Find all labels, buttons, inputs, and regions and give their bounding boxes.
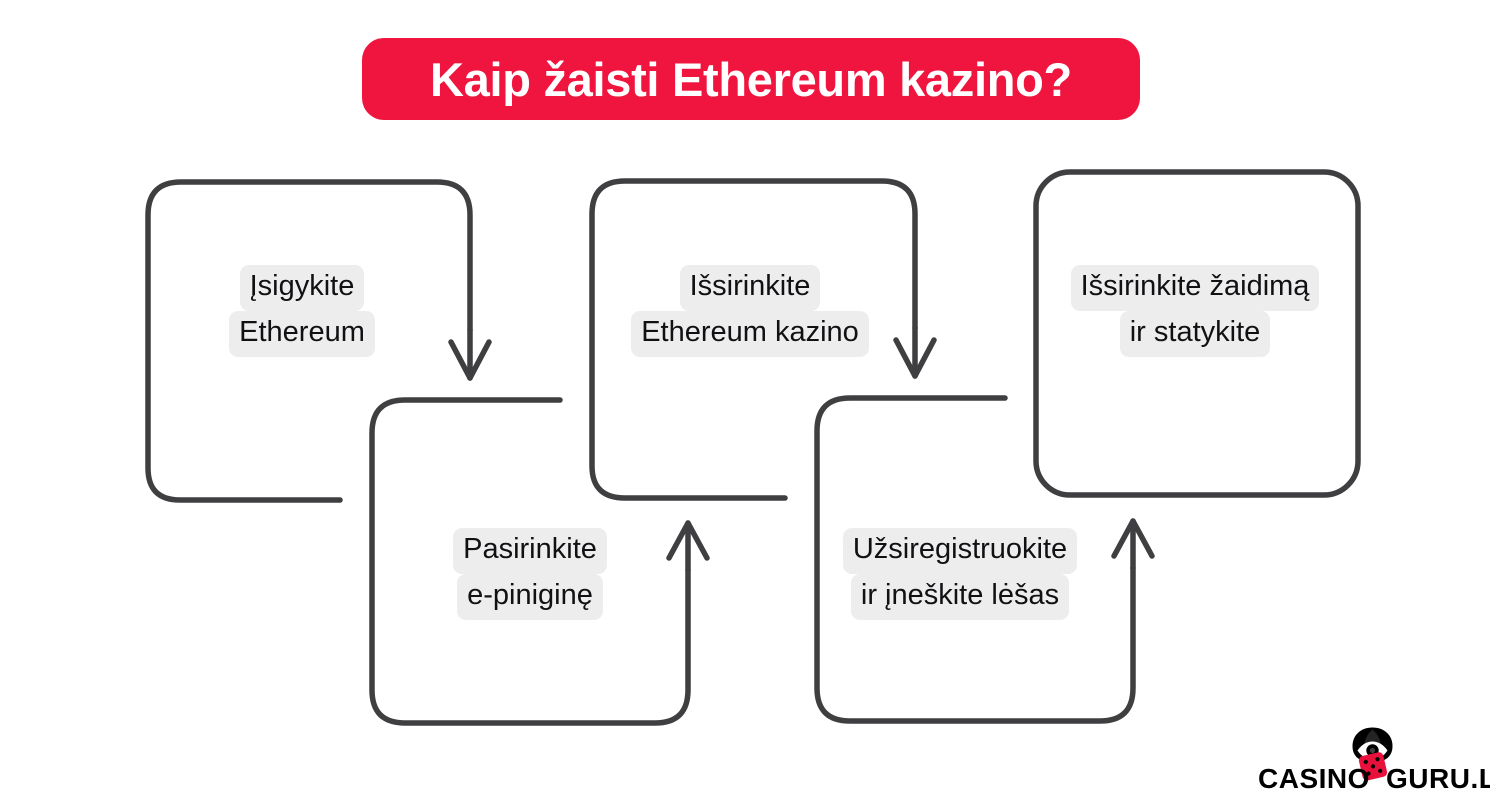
logo-text-casino: CASINO bbox=[1258, 763, 1370, 794]
step-3-label: Išsirinkite Ethereum kazino bbox=[575, 265, 925, 357]
infographic-canvas: Kaip žaisti Ethereum kazino? bbox=[0, 0, 1500, 800]
step-3-line-1: Išsirinkite bbox=[680, 265, 821, 311]
flowchart-strokes bbox=[0, 0, 1500, 800]
step-1-line-1: Įsigykite bbox=[240, 265, 365, 311]
step-4-label: Užsiregistruokite ir įneškite lėšas bbox=[800, 528, 1120, 620]
step-3-line-2: Ethereum kazino bbox=[631, 311, 869, 357]
logo-text-guru: GURU.LT bbox=[1386, 763, 1490, 794]
step-5-label: Išsirinkite žaidimą ir statykite bbox=[1020, 265, 1370, 357]
step-5-line-1: Išsirinkite žaidimą bbox=[1071, 265, 1320, 311]
step-5-line-2: ir statykite bbox=[1120, 311, 1271, 357]
step-1-label: Įsigykite Ethereum bbox=[182, 265, 422, 357]
step-4-line-1: Užsiregistruokite bbox=[843, 528, 1077, 574]
step-4-line-2: ir įneškite lėšas bbox=[851, 574, 1069, 620]
step-2-line-2: e-piniginę bbox=[457, 574, 603, 620]
step-2-line-1: Pasirinkite bbox=[453, 528, 607, 574]
step-1-line-2: Ethereum bbox=[229, 311, 375, 357]
casino-guru-logo[interactable]: CASINO GURU.LT bbox=[1258, 726, 1490, 794]
step-2-label: Pasirinkite e-piniginę bbox=[410, 528, 650, 620]
